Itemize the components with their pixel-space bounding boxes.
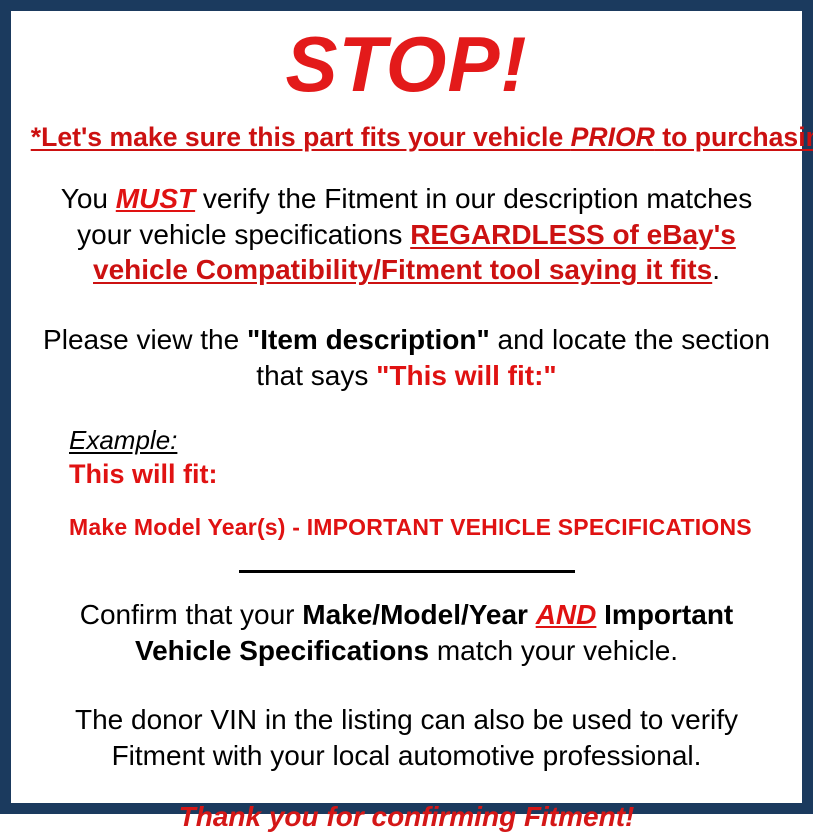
must-seg-3: . — [712, 254, 720, 285]
must-verify-paragraph: You MUST verify the Fitment in our descr… — [25, 181, 788, 288]
this-will-fit-quote: "This will fit:" — [376, 360, 557, 391]
notice-content: STOP! *Let's make sure this part fits yo… — [11, 25, 802, 817]
must-seg-1: You — [61, 183, 116, 214]
subtitle-line: *Let's make sure this part fits your veh… — [31, 123, 783, 153]
example-block: Example: This will fit: Make Model Year(… — [25, 426, 788, 542]
item-description-paragraph: Please view the "Item description" and l… — [25, 322, 788, 394]
itemdesc-seg-1: Please view the — [43, 324, 247, 355]
confirm-seg-1: Confirm that your — [80, 599, 303, 630]
horizontal-rule — [239, 570, 575, 573]
example-spec-line: Make Model Year(s) - IMPORTANT VEHICLE S… — [69, 514, 788, 542]
example-fit-heading: This will fit: — [69, 458, 788, 490]
spacer — [25, 573, 788, 597]
must-emphasis: MUST — [116, 183, 195, 214]
make-model-year-emphasis: Make/Model/Year — [302, 599, 535, 630]
fitment-notice-card: STOP! *Let's make sure this part fits yo… — [0, 0, 813, 814]
confirm-seg-2 — [596, 599, 604, 630]
confirm-seg-3: match your vehicle. — [429, 635, 678, 666]
item-description-quote: "Item description" — [247, 324, 490, 355]
confirm-paragraph: Confirm that your Make/Model/Year AND Im… — [25, 597, 788, 669]
example-label: Example: — [69, 426, 788, 456]
page-title: STOP! — [25, 25, 788, 103]
subtitle-prior-emphasis: PRIOR — [571, 122, 655, 152]
subtitle-lead: *Let's make sure this part fits your veh… — [31, 122, 571, 152]
donor-vin-paragraph: The donor VIN in the listing can also be… — [25, 702, 788, 774]
thank-you-line: Thank you for confirming Fitment! — [25, 800, 788, 834]
and-emphasis: AND — [536, 599, 597, 630]
subtitle-trail: to purchasing* — [655, 122, 813, 152]
